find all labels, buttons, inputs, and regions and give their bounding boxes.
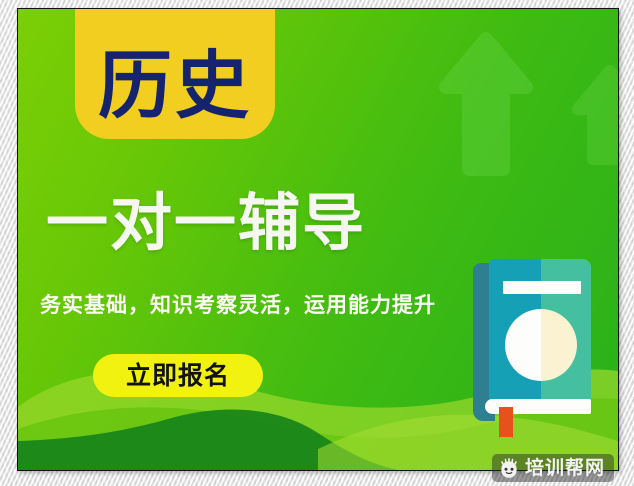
subheadline: 务实基础，知识考察灵活，运用能力提升	[40, 295, 436, 316]
watermark-text: 培训帮网	[525, 459, 605, 478]
book-illustration	[473, 259, 593, 424]
subject-badge-label: 历史	[98, 49, 252, 135]
headline: 一对一辅导	[46, 192, 366, 254]
book-top-band	[503, 281, 581, 294]
enroll-now-button-label: 立即报名	[126, 363, 230, 388]
smiley-face-logo-icon	[498, 457, 520, 479]
enroll-now-button[interactable]: 立即报名	[93, 354, 263, 397]
course-promo-banner[interactable]: 历史 一对一辅导 务实基础，知识考察灵活，运用能力提升 立即报名	[17, 8, 619, 471]
watermark: 培训帮网	[492, 454, 614, 482]
book-bookmark-icon	[499, 407, 513, 437]
subject-badge: 历史	[75, 8, 275, 139]
